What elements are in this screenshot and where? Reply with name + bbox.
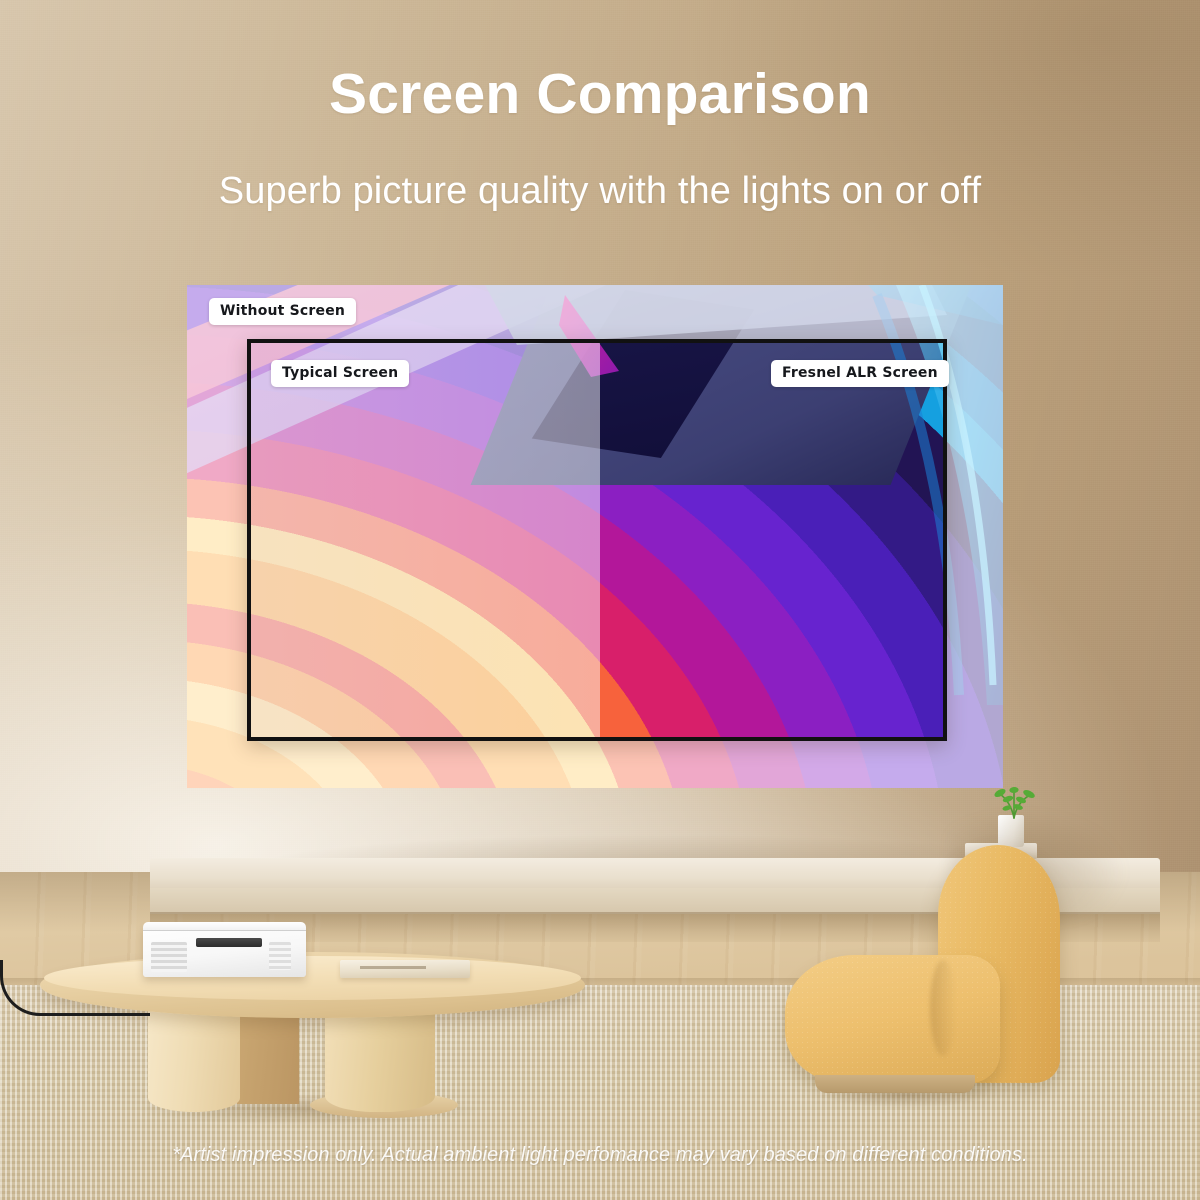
armchair-seat [785, 955, 1000, 1083]
coffee-table-leg-left [148, 1000, 240, 1112]
power-cable [0, 960, 150, 1016]
armchair-crease [930, 960, 956, 1056]
disclaimer-text: *Artist impression only. Actual ambient … [0, 1144, 1200, 1167]
fresnel-alr-screen-frame [247, 339, 947, 741]
coffee-table-shadow [70, 1092, 550, 1128]
label-fresnel-alr-screen: Fresnel ALR Screen [771, 360, 949, 387]
label-without-screen: Without Screen [209, 298, 356, 325]
books [340, 960, 470, 978]
projector-top-panel [143, 922, 306, 931]
screen-artwork-overlays [247, 339, 947, 741]
page-title: Screen Comparison [0, 66, 1200, 123]
projector-vent-left [151, 942, 187, 972]
artwork-ribbons [247, 339, 947, 741]
label-typical-screen: Typical Screen [271, 360, 409, 387]
projector-vent-right [269, 942, 291, 970]
page-subtitle: Superb picture quality with the lights o… [0, 170, 1200, 213]
armchair-base [815, 1075, 975, 1093]
boucle-texture [785, 955, 1000, 1083]
projector-lens [196, 938, 262, 947]
